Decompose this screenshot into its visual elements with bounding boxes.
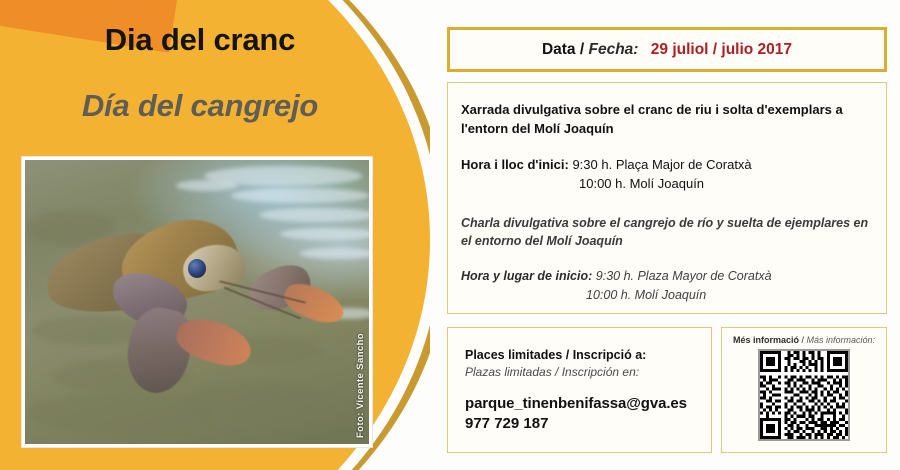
schedule-catalan: Hora i lloc d'inici: 9:30 h. Plaça Major… [461,155,873,194]
schedule-catalan-line2: 10:00 h. Molí Joaquín [461,174,873,194]
description-catalan: Xarrada divulgativa sobre el cranc de ri… [461,101,873,139]
more-info-qr-box: Més informació / Más información: [721,327,887,453]
registration-label-spanish: Plazas limitadas / Inscripción en: [465,364,711,380]
date-line: Data / Fecha: 29 juliol / julio 2017 [542,41,792,59]
description-spanish: Charla divulgativa sobre el cangrejo de … [461,214,873,252]
date-banner: Data / Fecha: 29 juliol / julio 2017 [447,27,887,72]
photo-credit: Foto: Vicente Sancho [355,333,366,438]
qr-label: Més informació / Más información: [722,335,886,345]
schedule-label-spanish: Hora y lugar de inicio: [461,269,592,283]
poster-canvas: Dia del cranc Día del cangrejo [0,0,900,470]
schedule-label-catalan: Hora i lloc d'inici: [461,157,569,172]
contact-phone[interactable]: 977 729 187 [465,414,711,434]
qr-label-spanish: Más información: [807,335,876,345]
schedule-catalan-line1: 9:30 h. Plaça Major de Coratxà [572,157,751,172]
photo-frame: Foto: Vicente Sancho [22,157,372,447]
schedule-spanish-line2: 10:00 h. Molí Joaquín [461,286,873,305]
date-label-catalan: Data [542,41,576,58]
date-label-separator: / [580,41,584,58]
qr-label-catalan: Més informació [733,335,799,345]
event-info-box: Xarrada divulgativa sobre el cranc de ri… [447,82,887,314]
page-title-catalan: Dia del cranc [0,22,400,58]
right-content-column: Data / Fecha: 29 juliol / julio 2017 Xar… [447,0,887,470]
contact-box: Places limitades / Inscripció a: Plazas … [447,327,712,453]
schedule-spanish: Hora y lugar de inicio: 9:30 h. Plaza Ma… [461,267,873,305]
page-title-spanish: Día del cangrejo [0,88,400,124]
contact-email[interactable]: parque_tinenbenifassa@gva.es [465,394,711,414]
crayfish-photo: Foto: Vicente Sancho [25,160,369,444]
registration-label-catalan: Places limitades / Inscripció a: [465,347,711,364]
qr-label-separator: / [801,335,804,345]
date-value: 29 juliol / julio 2017 [651,41,792,58]
schedule-spanish-line1: 9:30 h. Plaza Mayor de Coratxà [596,269,772,283]
qr-code-icon[interactable] [758,349,850,441]
date-label-spanish: Fecha: [588,41,638,58]
